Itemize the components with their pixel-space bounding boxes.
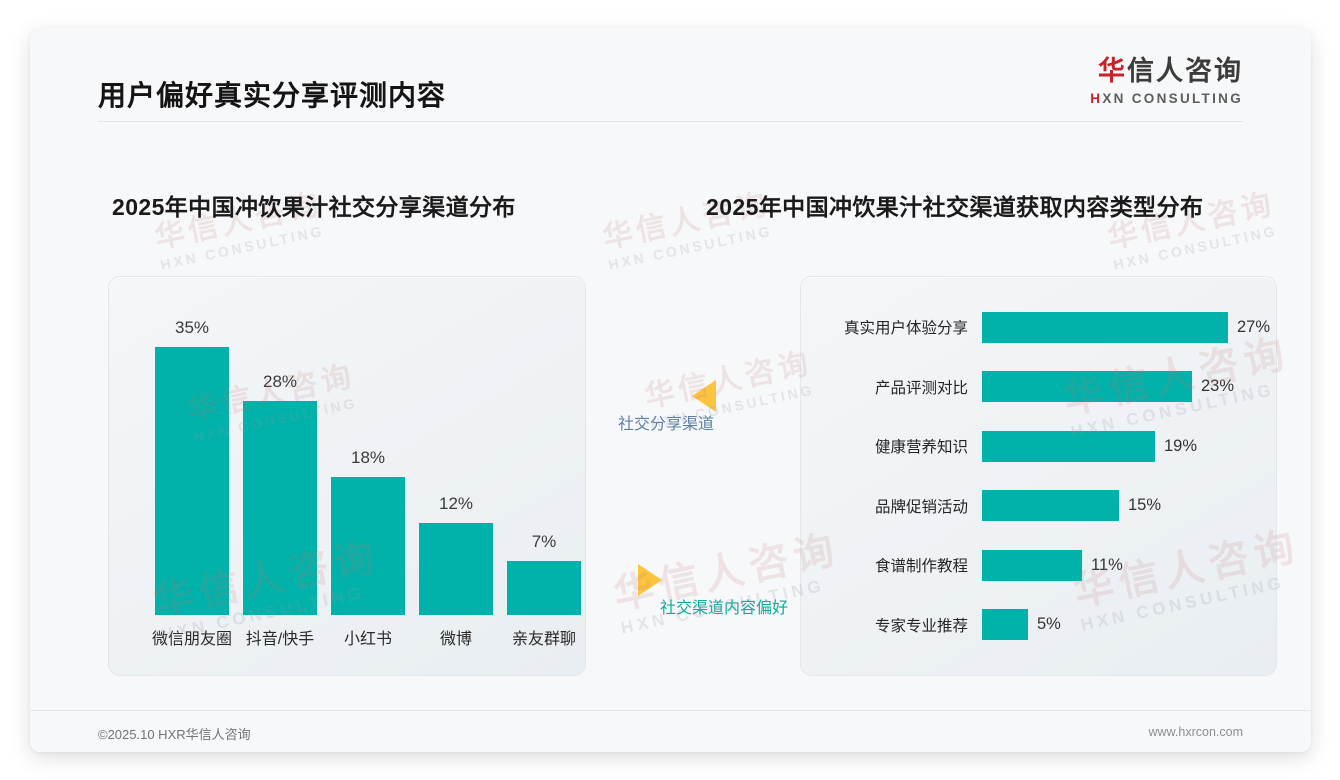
bar-rect	[982, 609, 1028, 640]
bar-rect: 35%	[155, 347, 229, 615]
bar-value-label: 18%	[331, 448, 405, 468]
triangle-left-icon	[692, 380, 716, 412]
social-share-channel-label: 社交分享渠道	[618, 410, 714, 434]
header-divider	[98, 121, 1243, 122]
bar-rect: 28%	[243, 401, 317, 615]
bar-rect	[982, 431, 1155, 462]
bar-value-label: 28%	[243, 372, 317, 392]
vertical-bar-chart: 35%微信朋友圈28%抖音/快手18%小红书12%微博7%亲友群聊	[109, 277, 585, 675]
bar-rect: 7%	[507, 561, 581, 615]
triangle-right-icon	[638, 564, 662, 596]
bar-value-label: 5%	[1037, 615, 1061, 634]
bar-value-label: 7%	[507, 532, 581, 552]
vertical-bar-column: 28%抖音/快手	[243, 401, 317, 615]
bar-category-label: 食谱制作教程	[817, 554, 982, 576]
social-share-channel-marker: 社交分享渠道	[618, 410, 714, 434]
horizontal-bar-row: 食谱制作教程11%	[817, 545, 1258, 585]
content-preference-marker: 社交渠道内容偏好	[638, 594, 788, 618]
bar-category-label: 专家专业推荐	[817, 614, 982, 636]
bar-category-label: 抖音/快手	[229, 625, 331, 649]
vertical-bar-column: 18%小红书	[331, 477, 405, 615]
bar-category-label: 产品评测对比	[817, 376, 982, 398]
watermark-en: HXN CONSULTING	[1112, 222, 1281, 272]
horizontal-bar-row: 健康营养知识19%	[817, 426, 1258, 466]
bar-track: 11%	[982, 545, 1258, 585]
bar-category-label: 小红书	[317, 625, 419, 649]
horizontal-bar-chart: 真实用户体验分享27%产品评测对比23%健康营养知识19%品牌促销活动15%食谱…	[801, 277, 1276, 675]
logo-chinese-rest: 信人咨询	[1127, 56, 1243, 86]
watermark-en: HXN CONSULTING	[607, 222, 776, 272]
left-chart-panel: 35%微信朋友圈28%抖音/快手18%小红书12%微博7%亲友群聊	[108, 276, 586, 676]
bar-track: 23%	[982, 367, 1258, 407]
brand-logo: 华信人咨询 HXN CONSULTING	[1090, 58, 1243, 106]
slide-card: 用户偏好真实分享评测内容 华信人咨询 HXN CONSULTING 华信人咨询 …	[30, 28, 1311, 752]
website-link[interactable]: www.hxrcon.com	[1149, 725, 1243, 739]
watermark-cn: 华信人咨询	[642, 348, 815, 414]
bar-value-label: 23%	[1201, 377, 1234, 396]
bar-category-label: 亲友群聊	[493, 625, 595, 649]
bar-value-label: 15%	[1128, 496, 1161, 515]
bar-rect	[982, 550, 1082, 581]
bar-category-label: 真实用户体验分享	[817, 316, 982, 338]
bar-value-label: 27%	[1237, 318, 1270, 337]
logo-english-rest: XN CONSULTING	[1102, 91, 1243, 106]
bar-category-label: 品牌促销活动	[817, 495, 982, 517]
vertical-bar-column: 7%亲友群聊	[507, 561, 581, 615]
bar-category-label: 微信朋友圈	[141, 625, 243, 649]
vertical-bar-plot-area: 35%微信朋友圈28%抖音/快手18%小红书12%微博7%亲友群聊	[125, 299, 569, 661]
horizontal-bar-row: 真实用户体验分享27%	[817, 307, 1258, 347]
bar-value-label: 35%	[155, 318, 229, 338]
bar-track: 5%	[982, 605, 1258, 645]
bar-category-label: 微博	[405, 625, 507, 649]
copyright-text: ©2025.10 HXR华信人咨询	[98, 724, 251, 743]
bar-value-label: 11%	[1091, 556, 1123, 575]
page-title: 用户偏好真实分享评测内容	[98, 74, 446, 114]
left-chart-title: 2025年中国冲饮果汁社交分享渠道分布	[112, 188, 516, 222]
bar-track: 27%	[982, 307, 1270, 347]
bar-rect	[982, 490, 1119, 521]
content-preference-label: 社交渠道内容偏好	[660, 594, 788, 618]
bar-rect: 18%	[331, 477, 405, 615]
vertical-bar-column: 12%微博	[419, 523, 493, 615]
bar-rect	[982, 312, 1228, 343]
logo-chinese-accent: 华	[1098, 56, 1127, 86]
bar-rect	[982, 371, 1192, 402]
bar-value-label: 19%	[1164, 437, 1197, 456]
bar-category-label: 健康营养知识	[817, 435, 982, 457]
horizontal-bar-row: 品牌促销活动15%	[817, 486, 1258, 526]
horizontal-bar-row: 专家专业推荐5%	[817, 605, 1258, 645]
horizontal-bar-row: 产品评测对比23%	[817, 367, 1258, 407]
slide-header: 用户偏好真实分享评测内容 华信人咨询 HXN CONSULTING	[30, 28, 1311, 122]
slide-footer: ©2025.10 HXR华信人咨询 www.hxrcon.com	[30, 710, 1311, 752]
logo-english: HXN CONSULTING	[1090, 92, 1243, 106]
bar-value-label: 12%	[419, 494, 493, 514]
bar-rect: 12%	[419, 523, 493, 615]
right-chart-panel: 真实用户体验分享27%产品评测对比23%健康营养知识19%品牌促销活动15%食谱…	[800, 276, 1277, 676]
logo-chinese: 华信人咨询	[1090, 58, 1243, 85]
bar-track: 19%	[982, 426, 1258, 466]
right-chart-title: 2025年中国冲饮果汁社交渠道获取内容类型分布	[706, 188, 1203, 222]
watermark-en: HXN CONSULTING	[159, 222, 328, 272]
logo-english-accent: H	[1090, 91, 1102, 106]
vertical-bar-column: 35%微信朋友圈	[155, 347, 229, 615]
bar-track: 15%	[982, 486, 1258, 526]
